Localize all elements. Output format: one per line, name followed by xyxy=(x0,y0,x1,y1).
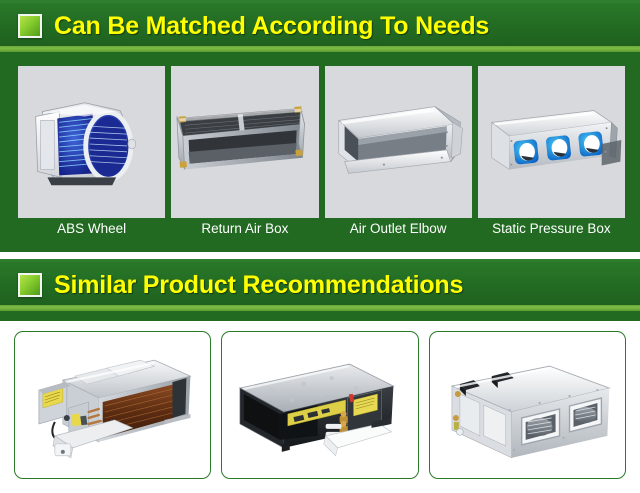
section-similar-heading: Similar Product Recommendations xyxy=(54,273,463,298)
banner-top-line-2 xyxy=(0,259,640,262)
similar-product-cards xyxy=(14,331,626,479)
similar-product-card-2[interactable] xyxy=(221,331,418,479)
duct-fan-coil-unit-silver-image xyxy=(15,332,210,478)
page-root: Can Be Matched According To Needs xyxy=(0,0,640,493)
section-matched-heading: Can Be Matched According To Needs xyxy=(54,14,489,39)
product-label-return-air-box: Return Air Box xyxy=(171,218,318,244)
matched-product-labels: ABS Wheel Return Air Box Air Outlet Elbo… xyxy=(18,218,625,244)
section-divider xyxy=(0,252,640,259)
similar-product-card-3[interactable] xyxy=(429,331,626,479)
section-similar-products: Similar Product Recommendations xyxy=(0,259,640,321)
return-air-box-image xyxy=(171,66,318,218)
section-matched-banner: Can Be Matched According To Needs xyxy=(0,0,640,52)
section-similar-banner: Similar Product Recommendations xyxy=(0,259,640,311)
product-label-air-outlet-elbow: Air Outlet Elbow xyxy=(325,218,472,244)
static-pressure-box-image xyxy=(478,66,625,218)
similar-product-card-1[interactable] xyxy=(14,331,211,479)
centrifugal-blower-wheel-image xyxy=(18,66,165,218)
product-panel-abs-wheel[interactable] xyxy=(18,66,165,218)
product-panel-air-outlet-elbow[interactable] xyxy=(325,66,472,218)
duct-fan-coil-unit-black-image xyxy=(222,332,417,478)
air-outlet-elbow-image xyxy=(325,66,472,218)
product-label-static-pressure-box: Static Pressure Box xyxy=(478,218,625,244)
product-label-abs-wheel: ABS Wheel xyxy=(18,218,165,244)
section-can-be-matched: Can Be Matched According To Needs xyxy=(0,0,640,252)
banner-top-line xyxy=(0,0,640,3)
banner-bottom-stripe xyxy=(0,46,640,52)
product-panel-static-pressure-box[interactable] xyxy=(478,66,625,218)
product-panel-return-air-box[interactable] xyxy=(171,66,318,218)
matched-product-panels xyxy=(18,66,625,218)
banner-bottom-stripe-2 xyxy=(0,305,640,311)
green-square-icon xyxy=(18,14,42,38)
duct-air-handling-unit-white-image xyxy=(430,332,625,478)
green-square-icon xyxy=(18,273,42,297)
